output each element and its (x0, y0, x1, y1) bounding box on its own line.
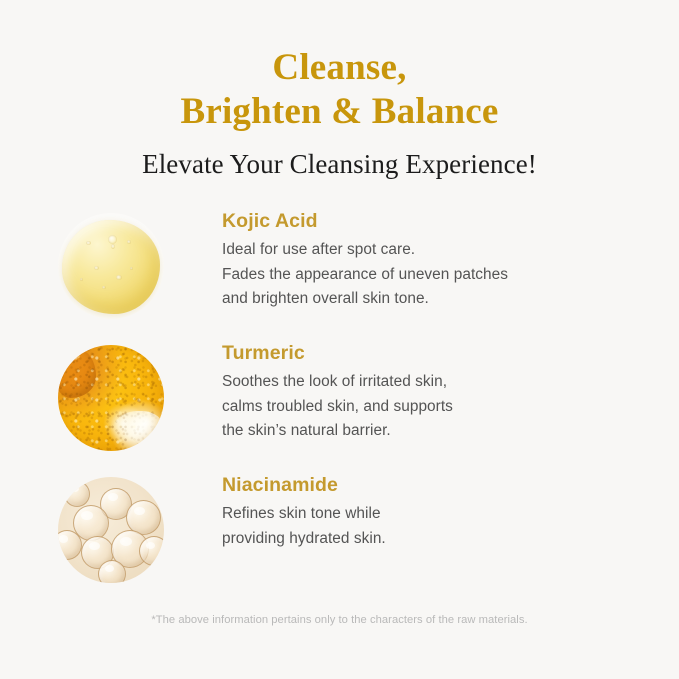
description-line: Soothes the look of irritated skin, (222, 370, 679, 395)
swatch-container (0, 337, 222, 451)
page-title: Cleanse, Brighten & Balance (0, 46, 679, 134)
description-line: and brighten overall skin tone. (222, 287, 679, 312)
serum-bubble-icon (130, 267, 133, 270)
description-line: Ideal for use after spot care. (222, 238, 679, 263)
serum-blob-shape (62, 220, 160, 313)
serum-bubble-icon (94, 266, 99, 270)
cream-bubbles-swatch (58, 477, 164, 583)
serum-bubble-icon (111, 244, 115, 249)
header: Cleanse, Brighten & Balance Elevate Your… (0, 46, 679, 180)
serum-bubble-icon (102, 286, 106, 289)
ingredient-text: Turmeric Soothes the look of irritated s… (222, 337, 679, 444)
footnote-disclaimer: *The above information pertains only to … (0, 612, 679, 628)
description-line: providing hydrated skin. (222, 527, 679, 552)
ingredient-description: Soothes the look of irritated skin, calm… (222, 370, 679, 444)
title-line-2: Brighten & Balance (0, 90, 679, 134)
serum-bubble-icon (80, 278, 83, 281)
ingredient-list: Kojic Acid Ideal for use after spot care… (0, 205, 679, 601)
serum-bubble-icon (86, 241, 91, 245)
description-line: Fades the appearance of uneven patches (222, 263, 679, 288)
cream-bubble-icon (58, 530, 82, 560)
description-line: the skin’s natural barrier. (222, 419, 679, 444)
ingredient-description: Ideal for use after spot care. Fades the… (222, 238, 679, 312)
ingredient-row-turmeric: Turmeric Soothes the look of irritated s… (0, 337, 679, 455)
ingredient-name: Kojic Acid (222, 209, 679, 233)
description-line: Refines skin tone while (222, 502, 679, 527)
ingredient-text: Niacinamide Refines skin tone while prov… (222, 469, 679, 551)
title-line-1: Cleanse, (0, 46, 679, 90)
serum-bubble-icon (127, 240, 131, 244)
serum-bubble-icon (108, 235, 117, 244)
serum-droplet-swatch (58, 213, 164, 319)
ingredient-row-niacinamide: Niacinamide Refines skin tone while prov… (0, 469, 679, 587)
ingredient-name: Niacinamide (222, 473, 679, 497)
swatch-container (0, 205, 222, 319)
ingredient-name: Turmeric (222, 341, 679, 365)
page-subtitle: Elevate Your Cleansing Experience! (0, 148, 679, 180)
serum-bubble-icon (116, 275, 122, 280)
description-line: calms troubled skin, and supports (222, 395, 679, 420)
infographic-page: Cleanse, Brighten & Balance Elevate Your… (0, 0, 679, 679)
ingredient-row-kojic-acid: Kojic Acid Ideal for use after spot care… (0, 205, 679, 323)
swatch-container (0, 469, 222, 583)
cream-bubble-icon (64, 481, 90, 507)
turmeric-powder-swatch (58, 345, 164, 451)
ingredient-text: Kojic Acid Ideal for use after spot care… (222, 205, 679, 312)
powder-inner-shadow (58, 345, 164, 451)
ingredient-description: Refines skin tone while providing hydrat… (222, 502, 679, 551)
